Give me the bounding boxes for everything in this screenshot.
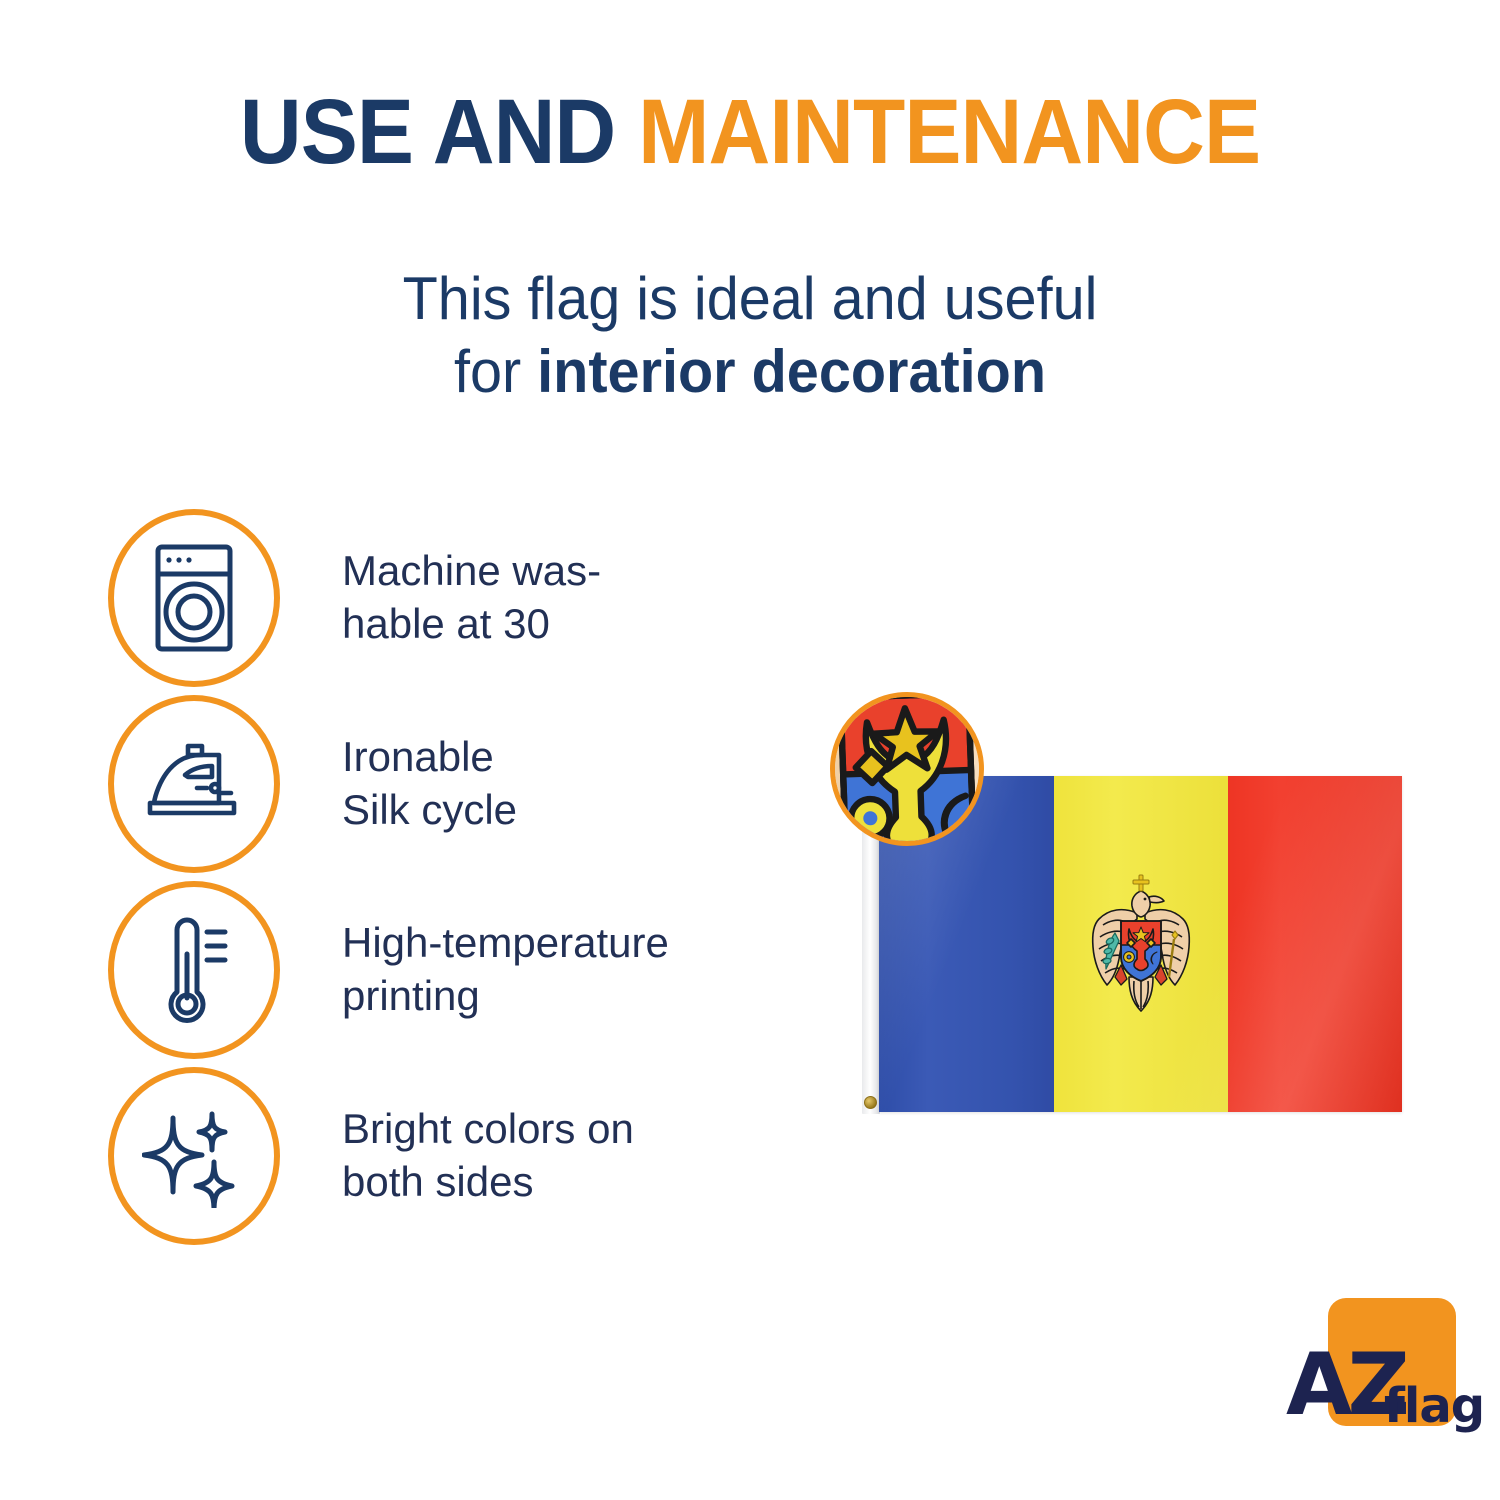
feature-label: Ironable Silk cycle (342, 731, 517, 837)
subtitle-line-2-strong: interior decoration (537, 338, 1046, 405)
fabric-closeup-zoom-bubble (830, 692, 984, 846)
page-title: USE AND MAINTENANCE (53, 86, 1448, 178)
iron-icon (141, 741, 247, 827)
flag-band-yellow (1054, 776, 1228, 1112)
thermometer-icon (155, 914, 233, 1026)
feature-icon-ring (108, 1067, 280, 1245)
feature-label: Bright colors on both sides (342, 1103, 634, 1209)
azflag-logo[interactable]: AZ flag (1286, 1298, 1454, 1450)
subtitle-line-2-prefix: for (454, 338, 537, 405)
subtitle-line-2: for interior decoration (30, 335, 1470, 408)
subtitle-line-1: This flag is ideal and useful (30, 262, 1470, 335)
page-title-part-primary: USE AND (240, 81, 638, 183)
feature-item-bright-colors: Bright colors on both sides (108, 1063, 808, 1249)
flag-band-red (1228, 776, 1402, 1112)
feature-item-high-temperature: High-temperature printing (108, 877, 808, 1063)
logo-flag-word: flag (1384, 1382, 1484, 1430)
flag-grommet (864, 1096, 877, 1109)
feature-label: Machine was- hable at 30 (342, 545, 601, 651)
zoom-bubble-content (830, 692, 984, 846)
sparkles-icon (142, 1104, 246, 1208)
washing-machine-icon (148, 542, 240, 654)
feature-label: High-temperature printing (342, 917, 669, 1023)
feature-item-machine-washable: Machine was- hable at 30 (108, 505, 808, 691)
coat-of-arms-closeup-icon (830, 692, 984, 846)
feature-icon-ring (108, 509, 280, 687)
feature-list: Machine was- hable at 30 Ironable Silk c… (108, 505, 808, 1249)
feature-icon-ring (108, 881, 280, 1059)
page-subtitle: This flag is ideal and useful for interi… (30, 262, 1470, 408)
feature-item-ironable: Ironable Silk cycle (108, 691, 808, 877)
page-title-part-accent: MAINTENANCE (638, 81, 1260, 183)
feature-icon-ring (108, 695, 280, 873)
moldova-coat-of-arms-icon (1079, 869, 1203, 1019)
